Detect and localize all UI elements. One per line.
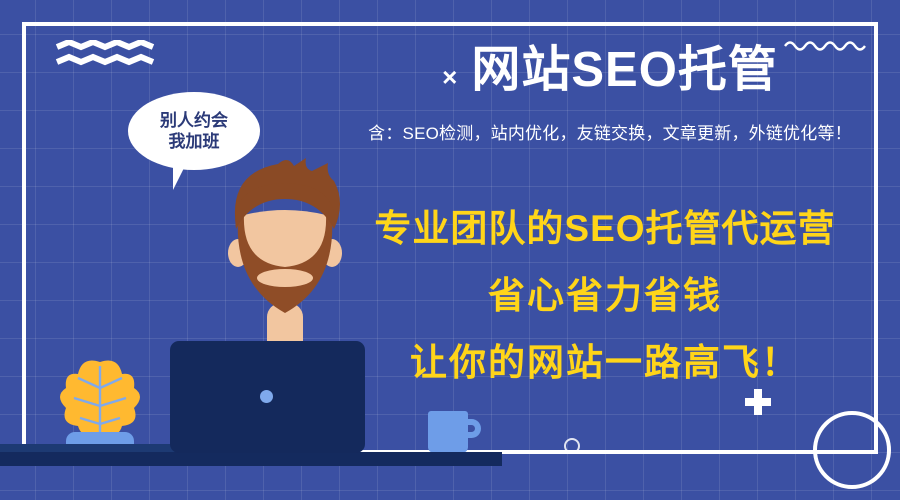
slogan-line-2: 省心省力省钱: [325, 265, 885, 319]
subtitle: 含：SEO检测，站内优化，友链交换，文章更新，外链优化等！: [330, 119, 890, 144]
plus-mark-icon: [745, 389, 771, 415]
coffee-mug-handle: [464, 419, 481, 438]
speech-bubble: 别人约会 我加班: [128, 92, 260, 170]
page-title: 网站SEO托管: [471, 45, 777, 96]
corner-circle-decoration: [813, 411, 891, 489]
coffee-mug: [428, 411, 468, 453]
laptop-logo-dot: [260, 390, 273, 403]
desk-top: [0, 452, 502, 466]
speech-bubble-line-2: 我加班: [169, 131, 220, 152]
person-mouth: [257, 269, 313, 287]
small-ring-decoration: [564, 438, 580, 454]
seo-promo-banner: × 网站SEO托管 含：SEO检测，站内优化，友链交换，文章更新，外链优化等！ …: [0, 0, 900, 500]
title-row: × 网站SEO托管: [350, 45, 870, 96]
slogan-line-3: 让你的网站一路高飞！: [325, 332, 885, 386]
title-cross-mark: ×: [442, 52, 457, 90]
speech-bubble-line-1: 别人约会: [160, 110, 228, 131]
slogan-line-1: 专业团队的SEO托管代运营: [325, 198, 885, 252]
wave-lines-left-icon: [55, 40, 155, 70]
